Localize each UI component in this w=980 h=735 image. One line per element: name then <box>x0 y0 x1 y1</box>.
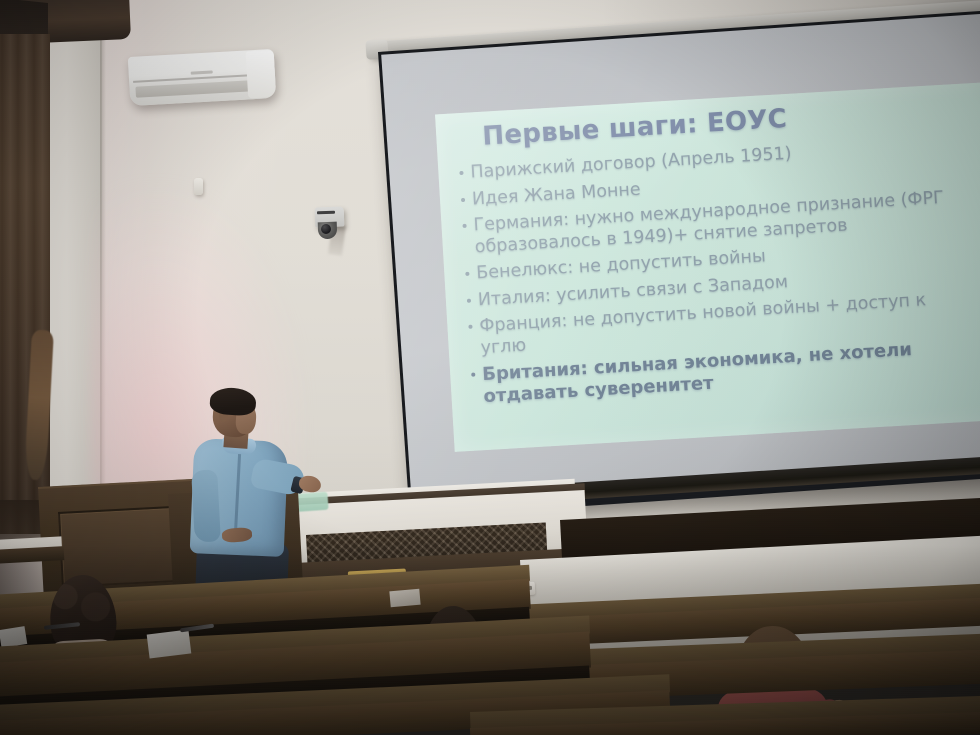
camera-lens <box>321 224 331 234</box>
wall-fixture <box>194 178 203 195</box>
air-conditioner-logo <box>191 70 213 74</box>
camera-slot <box>317 211 335 215</box>
slide-bullet-list: Парижский договор (Апрель 1951) Идея Жан… <box>452 129 980 415</box>
slide-title: Первые шаги: ЕОУС <box>482 104 788 152</box>
desk-paper <box>389 589 420 608</box>
air-conditioner-icon <box>128 49 277 106</box>
air-conditioner-vent <box>135 80 263 98</box>
lecture-hall-scene: Первые шаги: ЕОУС Парижский договор (Апр… <box>0 0 980 735</box>
presentation-slide: Первые шаги: ЕОУС Парижский договор (Апр… <box>435 80 980 452</box>
projection-screen-surface: Первые шаги: ЕОУС Парижский договор (Апр… <box>381 13 980 496</box>
presenter-left-arm <box>191 469 221 542</box>
air-conditioner-end-cap <box>246 50 277 98</box>
desk-paper <box>147 630 192 659</box>
projection-screen: Первые шаги: ЕОУС Парижский договор (Апр… <box>378 10 980 518</box>
